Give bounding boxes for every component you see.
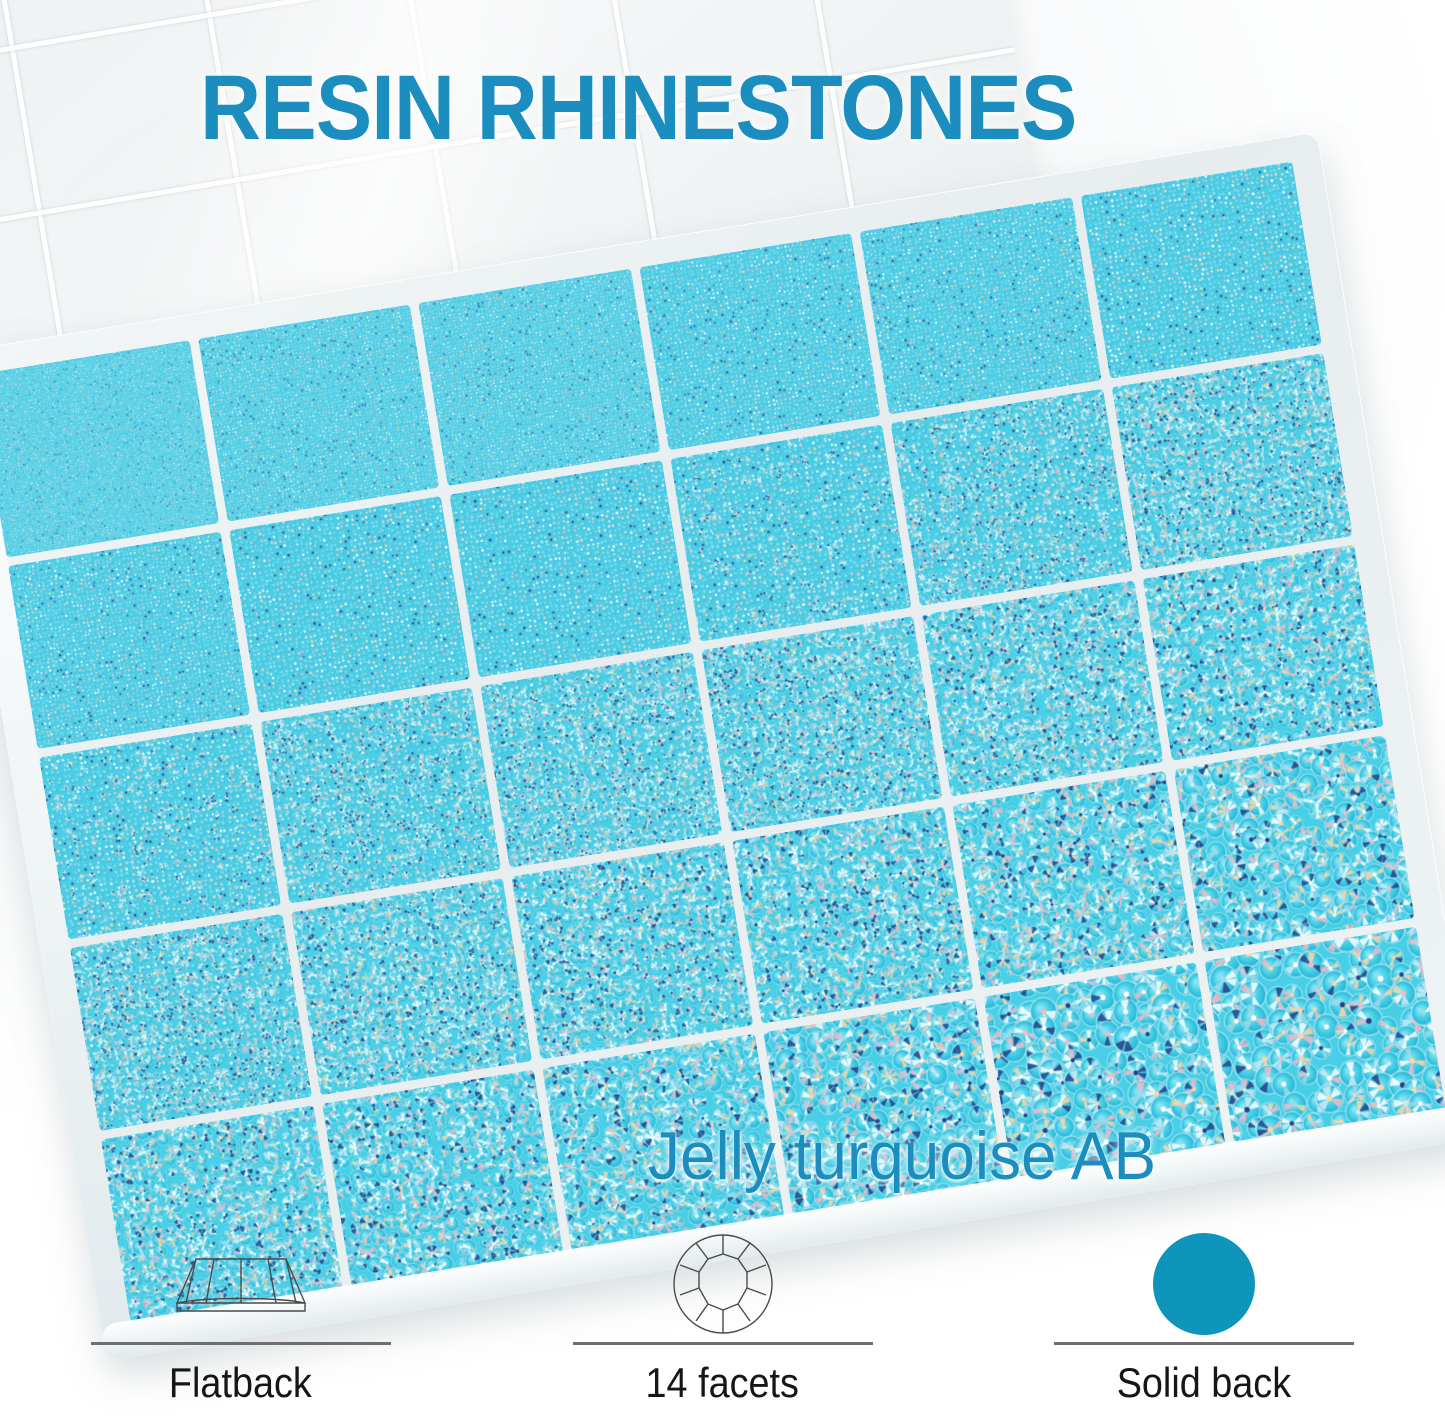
feature-divider <box>91 1342 391 1345</box>
feature-divider <box>573 1342 873 1345</box>
rhinestone-fill <box>1142 544 1383 761</box>
feature-label: Solid back <box>1117 1359 1291 1407</box>
rhinestone-fill <box>1111 353 1352 570</box>
rhinestone-fill <box>922 580 1163 797</box>
feature-label: 14 facets <box>646 1359 799 1407</box>
rhinestone-fill <box>70 914 311 1131</box>
compartment <box>639 233 880 450</box>
rhinestone-fill <box>670 425 911 642</box>
compartment <box>860 197 1101 414</box>
rhinestone-fill <box>1080 162 1321 379</box>
rhinestone-fill <box>732 807 973 1024</box>
rhinestone-fill <box>8 532 249 749</box>
rhinestone-fill <box>291 879 532 1096</box>
rhinestone-fill <box>0 340 218 557</box>
page-title: RESIN RHINESTONES <box>200 62 1076 154</box>
compartment <box>511 843 752 1060</box>
compartment <box>670 425 911 642</box>
feature-row: Flatback 14 facets Solid back <box>0 1228 1445 1424</box>
solid-color-circle-icon <box>963 1228 1445 1340</box>
compartment <box>8 532 249 749</box>
rhinestone-fill <box>860 197 1101 414</box>
compartment <box>1142 544 1383 761</box>
compartment <box>1204 927 1445 1144</box>
compartment <box>480 652 721 869</box>
rhinestone-fill <box>260 687 501 904</box>
compartment <box>39 723 280 940</box>
rhinestone-fill <box>198 305 439 522</box>
compartment <box>891 389 1132 606</box>
feature-facets: 14 facets <box>482 1228 964 1424</box>
product-color-name: Jelly turquoise AB <box>648 1122 1156 1190</box>
compartment <box>732 807 973 1024</box>
rhinestone-fill <box>639 233 880 450</box>
compartment <box>449 460 690 677</box>
rhinestone-fill <box>418 269 659 486</box>
compartment <box>70 914 311 1131</box>
compartment <box>198 305 439 522</box>
compartment <box>701 616 942 833</box>
compartment <box>922 580 1163 797</box>
rhinestone-fill <box>511 843 752 1060</box>
rhinestone-fill <box>480 652 721 869</box>
feature-solid-back: Solid back <box>963 1228 1445 1424</box>
flatback-trapezoid-icon <box>0 1228 482 1340</box>
feature-label: Flatback <box>169 1359 312 1407</box>
rhinestone-fill <box>229 496 470 713</box>
product-image: RESIN RHINESTONES Jelly turquoise AB Fla… <box>0 0 1445 1424</box>
compartment <box>229 496 470 713</box>
compartment <box>953 771 1194 988</box>
rhinestone-fill <box>39 723 280 940</box>
compartment <box>1173 736 1414 953</box>
compartment <box>0 340 218 557</box>
rhinestone-fill <box>953 771 1194 988</box>
compartment <box>418 269 659 486</box>
facet-wheel-icon <box>482 1228 964 1340</box>
feature-flatback: Flatback <box>0 1228 482 1424</box>
rhinestone-fill <box>891 389 1132 606</box>
compartment <box>291 879 532 1096</box>
color-swatch <box>1153 1233 1255 1335</box>
rhinestone-fill <box>1173 736 1414 953</box>
compartment <box>1111 353 1352 570</box>
rhinestone-fill <box>1204 927 1445 1144</box>
rhinestone-fill <box>449 460 690 677</box>
compartment <box>1080 162 1321 379</box>
rhinestone-fill <box>701 616 942 833</box>
compartment <box>260 687 501 904</box>
feature-divider <box>1054 1342 1354 1345</box>
